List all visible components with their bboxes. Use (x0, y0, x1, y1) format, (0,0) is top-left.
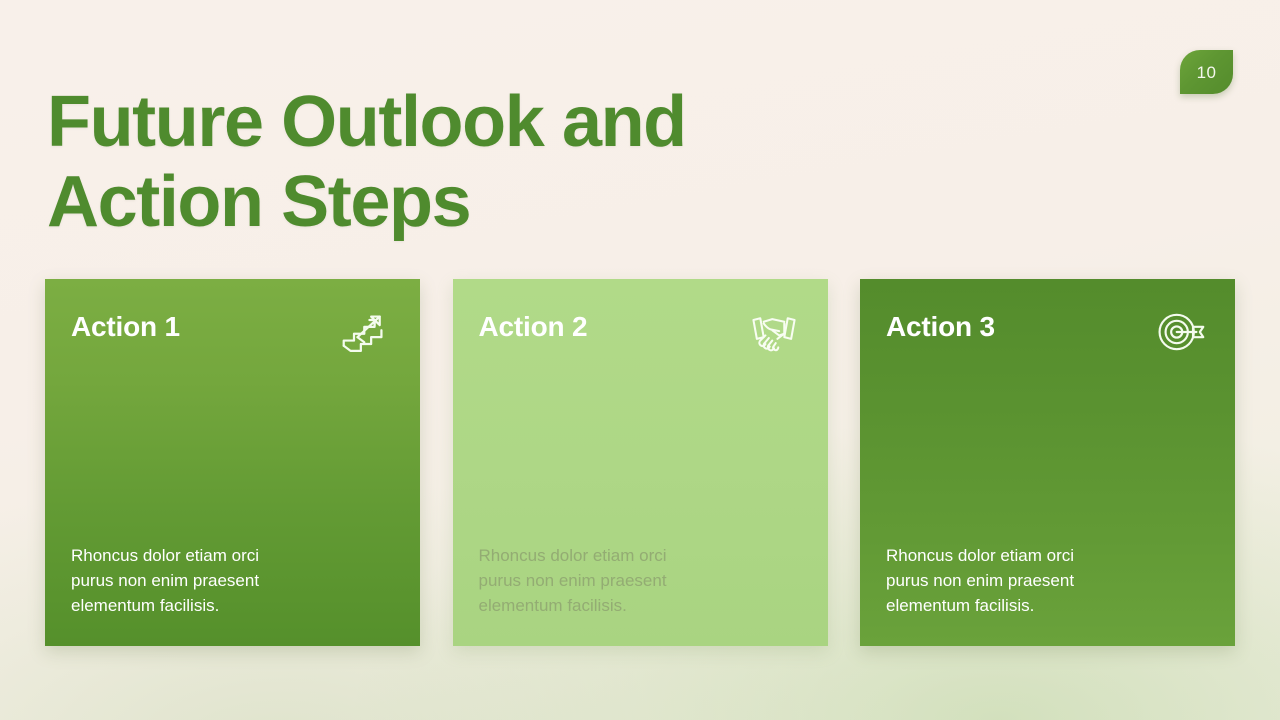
action-card-2[interactable]: Action 2 R (453, 279, 828, 646)
card-title: Action 3 (886, 311, 995, 343)
card-body-text: Rhoncus dolor etiam orci purus non enim … (886, 543, 1118, 618)
page-number-label: 10 (1197, 64, 1217, 81)
target-bullseye-arrow-icon (1153, 308, 1209, 356)
action-card-3[interactable]: Action 3 Rhoncus dolor etiam orci purus … (860, 279, 1235, 646)
stairs-growth-arrow-icon (338, 308, 394, 356)
card-body-text: Rhoncus dolor etiam orci purus non enim … (71, 543, 303, 618)
action-cards-row: Action 1 Rhoncus dolor etiam orci purus … (45, 279, 1235, 646)
handshake-icon (746, 308, 802, 356)
slide: 10 Future Outlook and Action Steps Actio… (0, 0, 1280, 720)
card-spacer (71, 356, 394, 543)
action-card-1[interactable]: Action 1 Rhoncus dolor etiam orci purus … (45, 279, 420, 646)
card-spacer (479, 356, 802, 543)
card-spacer (886, 356, 1209, 543)
card-header: Action 1 (71, 311, 394, 356)
card-title: Action 2 (479, 311, 588, 343)
card-body-text: Rhoncus dolor etiam orci purus non enim … (479, 543, 711, 618)
card-header: Action 3 (886, 311, 1209, 356)
card-title: Action 1 (71, 311, 180, 343)
page-number-badge: 10 (1180, 50, 1233, 94)
card-header: Action 2 (479, 311, 802, 356)
page-title: Future Outlook and Action Steps (47, 82, 807, 242)
